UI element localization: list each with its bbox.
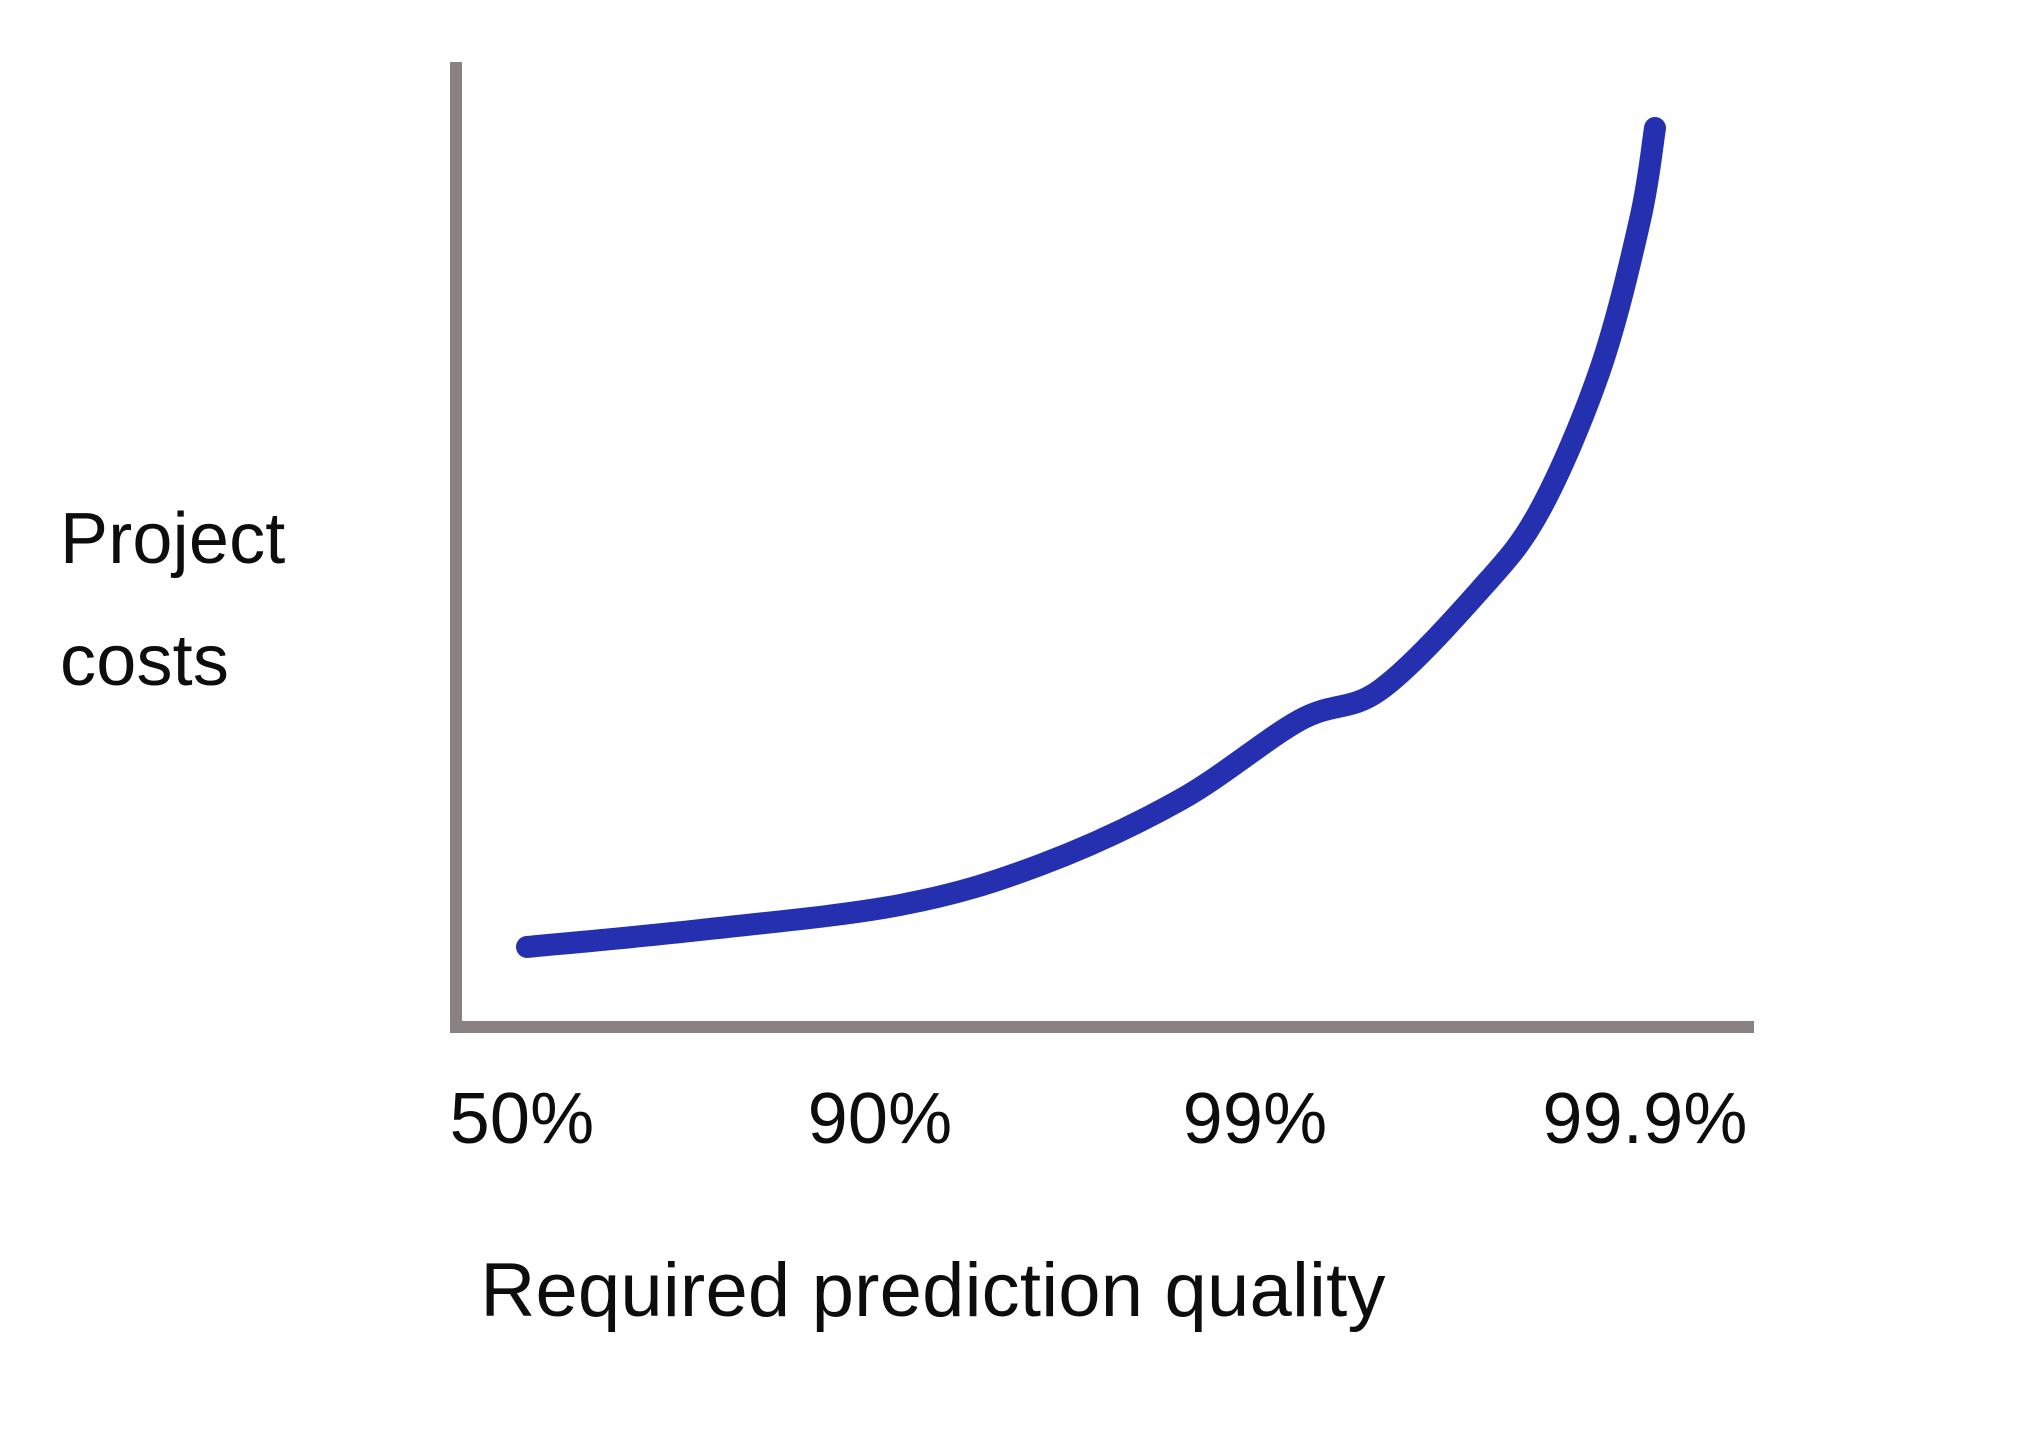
y-axis-line: [450, 62, 462, 1033]
x-tick-label-3: 99.9%: [1475, 1073, 1815, 1165]
x-tick-label-1: 90%: [710, 1073, 1050, 1165]
y-axis-title: Project costs: [60, 478, 420, 722]
x-axis-title: Required prediction quality: [0, 1243, 2036, 1339]
x-tick-label-0: 50%: [352, 1073, 692, 1165]
chart-figure: Project costs 50% 90% 99% 99.9% Required…: [0, 0, 2036, 1444]
cost-curve-plot: [0, 0, 2036, 1444]
cost-curve-line: [527, 128, 1655, 947]
x-tick-label-2: 99%: [1085, 1073, 1425, 1165]
x-axis-line: [450, 1021, 1754, 1033]
x-axis-tick-labels: 50% 90% 99% 99.9%: [450, 1073, 1754, 1183]
